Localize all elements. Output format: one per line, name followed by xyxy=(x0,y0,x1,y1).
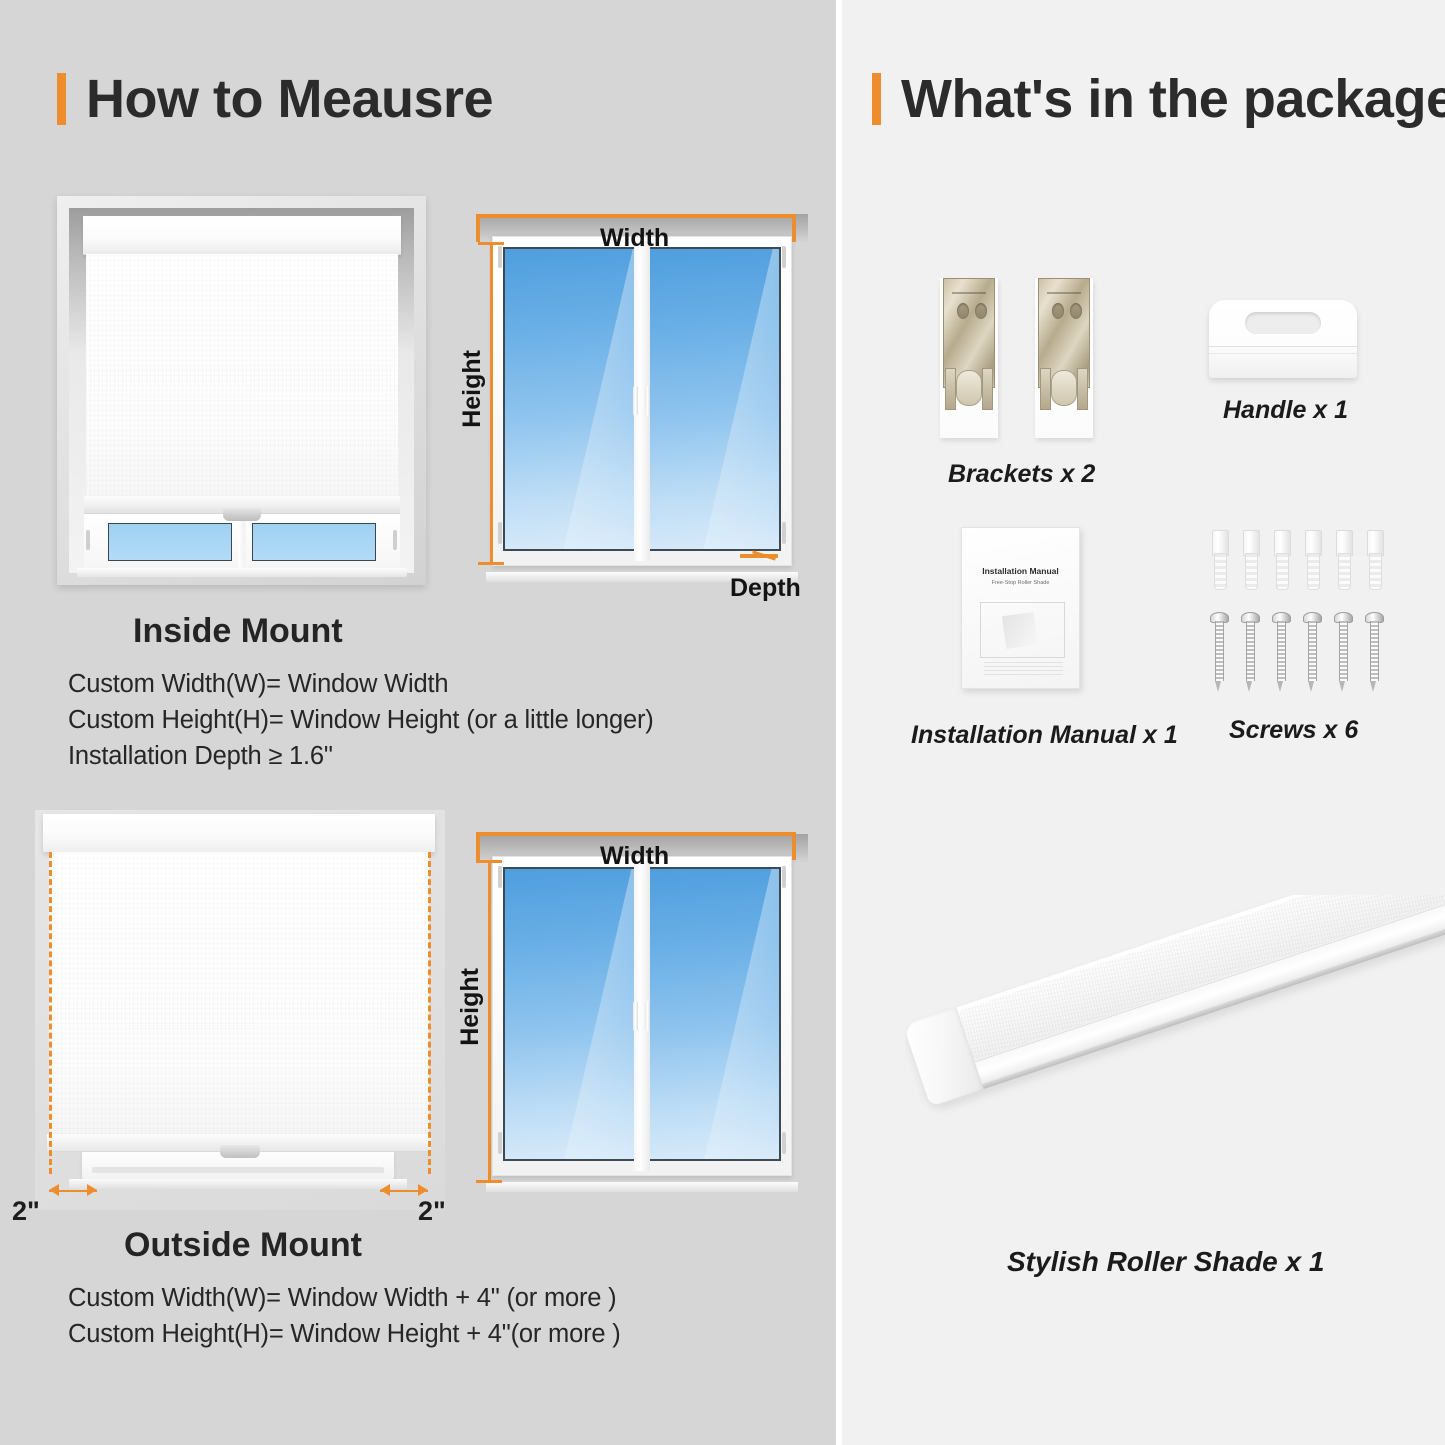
bracket-tab-right xyxy=(1077,368,1088,410)
outside-mount-illustration xyxy=(35,810,445,1210)
window-lock-icon xyxy=(498,866,502,888)
screw-tip xyxy=(1246,681,1252,692)
inside-mount-title: Inside Mount xyxy=(133,612,343,651)
height-dimension-end-top xyxy=(476,860,502,863)
wall-anchor-part xyxy=(1367,530,1382,588)
inside-mount-window-diagram: Width Height Depth xyxy=(452,202,818,608)
dimension-arrow-icon xyxy=(87,1184,97,1196)
whats-in-package-heading: What's in the package xyxy=(872,72,1445,126)
inside-mount-spec-height: Custom Height(H)= Window Height (or a li… xyxy=(68,706,654,735)
depth-label: Depth xyxy=(730,574,801,603)
dimension-arrow-icon xyxy=(49,1184,59,1196)
screw-shank xyxy=(1370,621,1379,681)
window-lock-icon xyxy=(498,246,502,268)
screw-tip xyxy=(1215,681,1221,692)
window-pane-right xyxy=(643,247,781,551)
anchor-body xyxy=(1214,553,1227,590)
orange-accent-bar-icon xyxy=(872,73,881,125)
window-handle-right-icon xyxy=(393,530,397,550)
inside-mount-spec-depth: Installation Depth ≥ 1.6" xyxy=(68,742,333,771)
roller-shade-body xyxy=(905,895,1445,1107)
bracket-hole-icon xyxy=(1070,303,1082,319)
orange-accent-bar-icon xyxy=(57,73,66,125)
overhang-label-right: 2" xyxy=(418,1196,446,1227)
window-pane-left xyxy=(503,247,641,551)
screw-tip xyxy=(1370,681,1376,692)
installation-manual-part: Installation Manual Free-Stop Roller Sha… xyxy=(961,527,1080,689)
bracket-hole-icon xyxy=(957,303,969,319)
shade-valance xyxy=(83,216,401,255)
infographic-page: How to Meausre What's in the package xyxy=(0,0,1445,1445)
bracket-tab-right xyxy=(982,368,993,410)
screw-part xyxy=(1365,612,1382,692)
anchor-body xyxy=(1338,553,1351,590)
window-lock-icon xyxy=(782,1132,786,1154)
shade-fabric-texture xyxy=(954,895,1445,1062)
handle-part xyxy=(1209,300,1357,378)
height-label: Height xyxy=(456,968,485,1046)
window-lock-icon xyxy=(498,1132,502,1154)
width-dimension-line xyxy=(476,214,796,218)
width-dimension-end-right xyxy=(792,832,796,860)
bracket-tab-left xyxy=(1040,368,1051,410)
window-handle-icon xyxy=(645,386,650,416)
window-mullion xyxy=(238,514,245,572)
window-handle-icon xyxy=(633,1001,638,1031)
bracket-slot xyxy=(1051,370,1077,406)
width-label: Width xyxy=(600,842,669,871)
window-lock-icon xyxy=(782,866,786,888)
outside-mount-spec-height: Custom Height(H)= Window Height + 4"(or … xyxy=(68,1320,621,1349)
dimension-arrow-icon xyxy=(418,1184,428,1196)
roller-shade-product-photo xyxy=(905,895,1445,1225)
height-dimension-end-bottom xyxy=(478,562,504,565)
height-dimension-line xyxy=(488,860,491,1182)
wall-anchor-part xyxy=(1274,530,1289,588)
manual-cover-fineprint xyxy=(984,662,1063,676)
manual-cover-illustration xyxy=(980,602,1065,658)
outside-mount-window-diagram: Width Height xyxy=(452,822,818,1218)
roller-shade-label: Stylish Roller Shade x 1 xyxy=(1007,1246,1324,1278)
height-dimension-end-bottom xyxy=(476,1180,502,1183)
bracket-tab-left xyxy=(945,368,956,410)
window-handle-icon xyxy=(633,386,638,416)
how-to-measure-title: How to Meausre xyxy=(86,72,493,126)
bracket-part-2 xyxy=(1035,278,1093,438)
bracket-hole-icon xyxy=(1052,303,1064,319)
shade-pull-handle xyxy=(223,508,261,521)
whats-in-package-title: What's in the package xyxy=(901,72,1445,126)
window-handle-left-icon xyxy=(86,530,90,550)
anchor-body xyxy=(1245,553,1258,590)
window-sill xyxy=(486,1182,798,1192)
window-frame xyxy=(492,236,792,566)
shade-fabric xyxy=(86,254,398,496)
screw-part xyxy=(1334,612,1351,692)
screws-label: Screws x 6 xyxy=(1229,716,1358,745)
window-handle-icon xyxy=(645,1001,650,1031)
inside-mount-illustration xyxy=(57,196,426,585)
bracket-slot xyxy=(956,370,982,406)
window-lock-icon xyxy=(782,246,786,268)
width-dimension-line xyxy=(476,832,796,836)
anchor-body xyxy=(1369,553,1382,590)
screw-tip xyxy=(1277,681,1283,692)
height-dimension-line xyxy=(490,242,493,564)
height-dimension-end-top xyxy=(478,242,504,245)
width-dimension-end-right xyxy=(792,214,796,242)
screw-part xyxy=(1241,612,1258,692)
width-dimension-end-left xyxy=(476,214,480,242)
outside-mount-spec-width: Custom Width(W)= Window Width + 4" (or m… xyxy=(68,1284,616,1313)
screw-part xyxy=(1210,612,1227,692)
window-glass-right xyxy=(252,523,376,561)
wall-anchor-part xyxy=(1243,530,1258,588)
screw-shank xyxy=(1246,621,1255,681)
bracket-part-1 xyxy=(940,278,998,438)
wall-anchor-part xyxy=(1305,530,1320,588)
window-frame xyxy=(492,856,792,1176)
brackets-label: Brackets x 2 xyxy=(948,460,1095,489)
window-lock-icon xyxy=(782,522,786,544)
wall-anchor-part xyxy=(1336,530,1351,588)
anchor-body xyxy=(1276,553,1289,590)
shade-pull-handle xyxy=(220,1145,260,1158)
window-pane-right xyxy=(643,867,781,1161)
manual-cover-title: Installation Manual xyxy=(962,566,1079,576)
handle-label: Handle x 1 xyxy=(1223,396,1348,425)
overhang-guide-left xyxy=(49,852,52,1174)
inside-mount-spec-width: Custom Width(W)= Window Width xyxy=(68,670,448,699)
screw-part xyxy=(1272,612,1289,692)
how-to-measure-heading: How to Meausre xyxy=(57,72,493,126)
bracket-hole-icon xyxy=(975,303,987,319)
dimension-arrow-icon xyxy=(380,1184,390,1196)
window-glass-left xyxy=(108,523,232,561)
overhang-label-left: 2" xyxy=(12,1196,40,1227)
width-label: Width xyxy=(600,224,669,253)
screw-shank xyxy=(1277,621,1286,681)
window-sash-line xyxy=(92,1167,384,1173)
shade-fabric xyxy=(49,852,429,1134)
screw-shank xyxy=(1308,621,1317,681)
shade-valance xyxy=(43,814,435,852)
anchor-body xyxy=(1307,553,1320,590)
screw-shank xyxy=(1215,621,1224,681)
window-pane-left xyxy=(503,867,641,1161)
width-dimension-end-left xyxy=(476,832,480,860)
screw-shank xyxy=(1339,621,1348,681)
screw-tip xyxy=(1308,681,1314,692)
wall-anchor-part xyxy=(1212,530,1227,588)
window-sill xyxy=(69,1179,407,1189)
manual-cover-subtitle: Free-Stop Roller Shade xyxy=(962,580,1079,586)
window-lock-icon xyxy=(498,522,502,544)
height-label: Height xyxy=(458,350,487,428)
window-sill xyxy=(77,568,407,577)
screw-tip xyxy=(1339,681,1345,692)
installation-manual-label: Installation Manual x 1 xyxy=(911,721,1178,750)
screw-part xyxy=(1303,612,1320,692)
outside-mount-title: Outside Mount xyxy=(124,1226,362,1265)
overhang-guide-right xyxy=(428,852,431,1174)
